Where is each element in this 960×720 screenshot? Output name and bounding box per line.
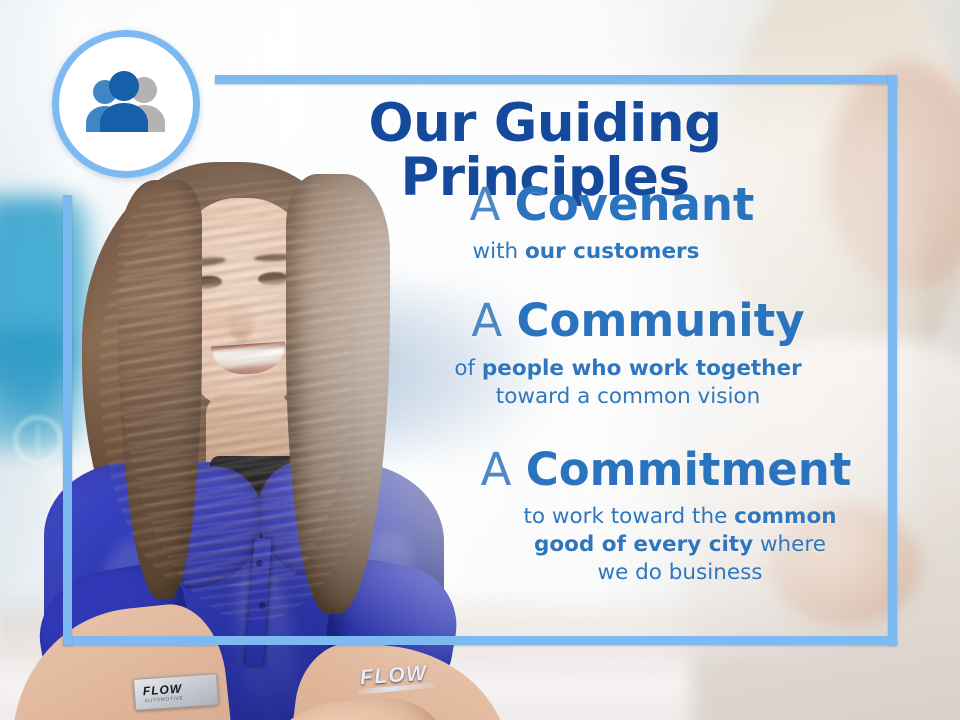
principle-keyword: Community [517,294,805,347]
subtext-line: to work toward the common [480,503,880,531]
subtext-span-bold: common [734,504,836,529]
employee-nametag: FLOW AUTOMOTIVE [133,673,219,711]
subtext-span-bold: good of every city [534,532,753,557]
principle-subtext: to work toward the common good of every … [300,503,880,587]
principle-heading: A Commitment [300,445,880,495]
principle-community: A Community of people who work together … [300,296,880,410]
principle-keyword: Covenant [515,178,755,231]
subtext-span-bold: our customers [525,239,699,264]
subtext-line: of people who work together [376,355,880,383]
principle-article: A [481,443,526,496]
subtext-line: we do business [480,559,880,587]
principle-covenant: A Covenant with our customers [300,180,880,266]
principle-article: A [470,178,515,231]
polo-button [259,602,266,609]
principle-subtext: of people who work together toward a com… [300,355,880,411]
car-badge-icon [14,416,62,464]
subtext-line: good of every city where [480,531,880,559]
principle-keyword: Commitment [526,443,852,496]
subtext-span-bold: people who work together [482,356,802,381]
subtext-line: toward a common vision [376,383,880,411]
subtext-span: we do business [598,560,763,585]
subtext-span: toward a common vision [496,384,760,409]
subtext-line: with our customers [300,238,872,266]
principles-list: A Covenant with our customers A Communit… [300,180,880,591]
people-group-icon [78,70,174,138]
subtext-span: of [454,356,482,381]
principle-article: A [471,294,516,347]
principle-subtext: with our customers [300,238,872,266]
graphic-canvas: FLOW AUTOMOTIVE FLOW [0,0,960,720]
principle-heading: A Community [300,296,880,346]
principle-heading: A Covenant [300,180,872,230]
principle-commitment: A Commitment to work toward the common g… [300,445,880,587]
subtext-span: to work toward the [523,504,734,529]
nametag-subtext: AUTOMOTIVE [144,696,183,705]
people-group-badge [52,30,200,178]
subtext-span: where [753,532,826,557]
subtext-span: with [473,239,525,264]
